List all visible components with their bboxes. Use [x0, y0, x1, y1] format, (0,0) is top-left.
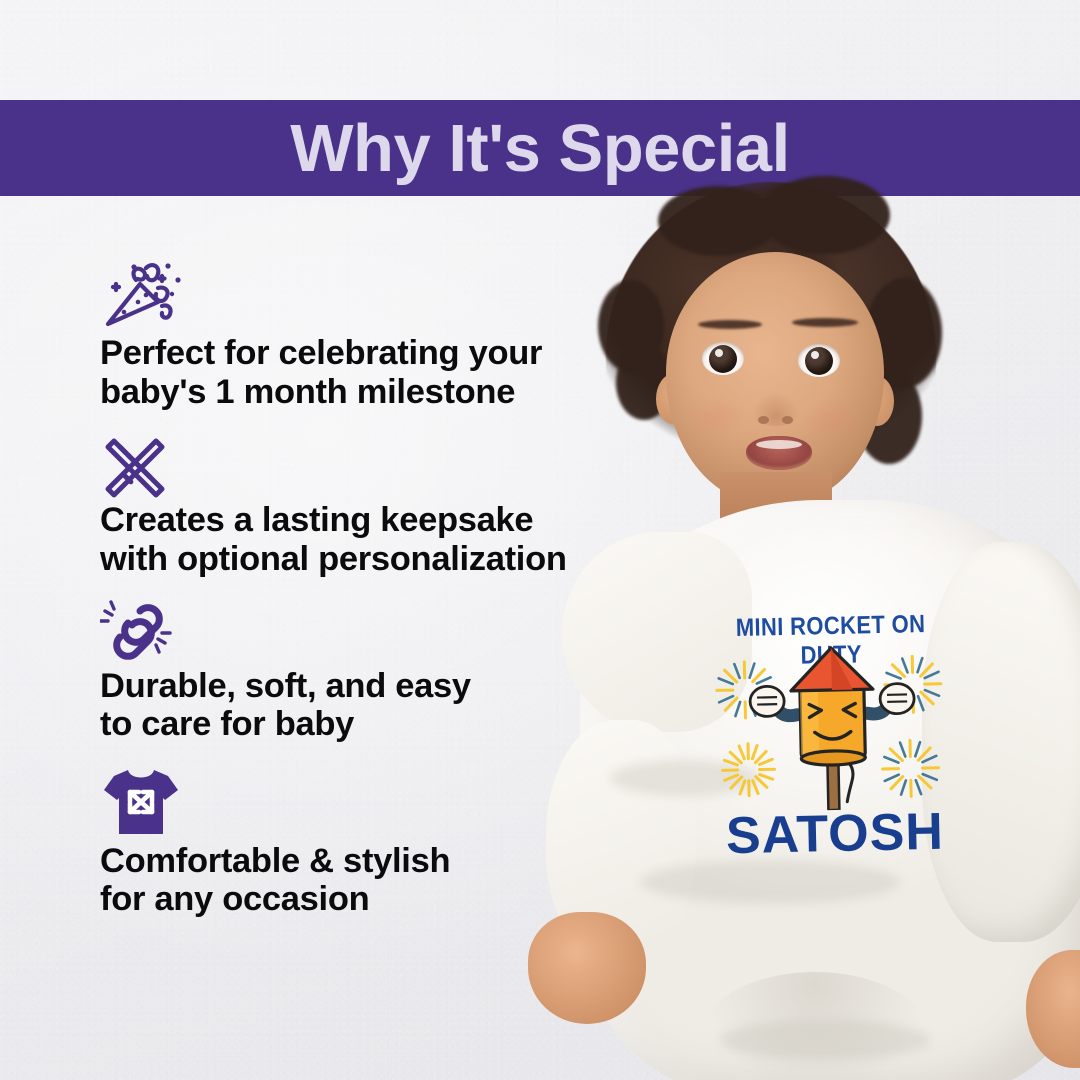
baby-cheek-right	[800, 398, 864, 442]
fabric-fold	[720, 1020, 930, 1060]
baby-mouth	[746, 436, 812, 470]
baby-eye-left	[702, 342, 744, 375]
baby-brow-right	[792, 318, 858, 327]
infographic-canvas: Why It's Special	[0, 0, 1080, 1080]
product-photo: MINI ROCKET ON DUTY	[470, 160, 1080, 1080]
baby-hand-left	[528, 912, 646, 1024]
baby-brow-left	[698, 320, 762, 329]
baby-cheek-left	[684, 396, 748, 440]
print-personalized-name: SATOSH	[689, 801, 980, 867]
rocket-artwork	[700, 639, 965, 812]
baby-iris-right	[805, 347, 833, 375]
baby-eye-right	[798, 344, 840, 377]
baby-nostril-left	[758, 416, 769, 424]
baby-nostril-right	[782, 416, 793, 424]
hair-curl	[760, 176, 890, 254]
onesie-print: MINI ROCKET ON DUTY	[685, 609, 980, 875]
baby-iris-left	[709, 345, 737, 373]
